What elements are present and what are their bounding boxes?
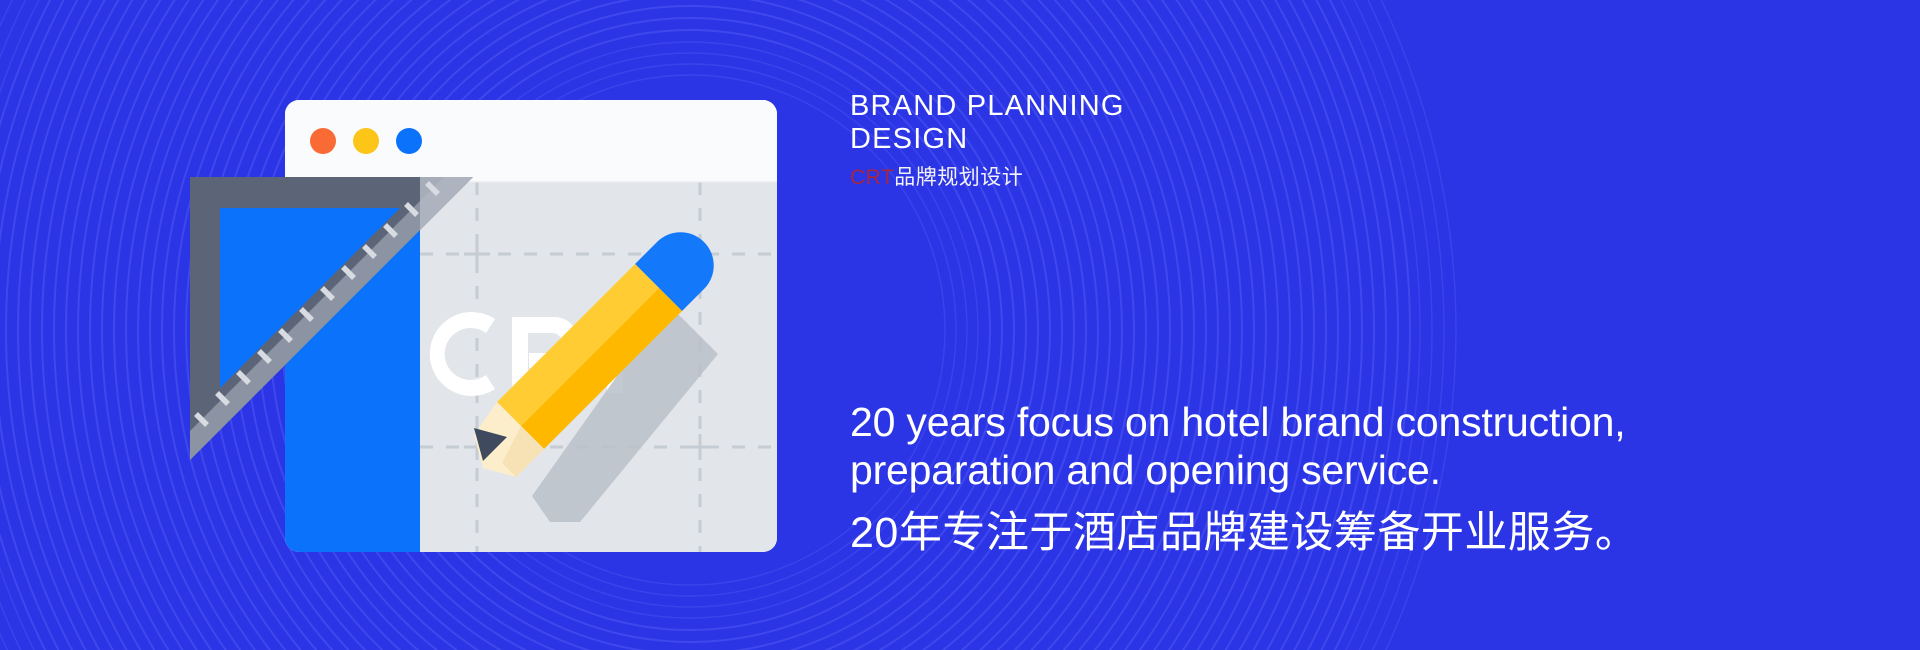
eyebrow-line-2: DESIGN xyxy=(850,123,1470,156)
brand-design-illustration xyxy=(232,82,832,572)
headline-block: 20 years focus on hotel brand constructi… xyxy=(850,398,1850,558)
maximize-dot xyxy=(396,128,422,154)
eyebrow-subtitle-cn-text: 品牌规划设计 xyxy=(894,166,1023,189)
promo-banner: BRAND PLANNING DESIGN CRT品牌规划设计 20 years… xyxy=(0,0,1920,650)
minimize-dot xyxy=(353,128,379,154)
brand-name-crt: CRT xyxy=(850,166,894,189)
window-control-dots xyxy=(310,128,422,154)
headline-en-line-2: preparation and opening service. xyxy=(850,446,1850,494)
headline-en-line-1: 20 years focus on hotel brand constructi… xyxy=(850,398,1850,446)
headline-cn-line: 20年专注于酒店品牌建设筹备开业服务。 xyxy=(850,508,1850,558)
eyebrow-line-1: BRAND PLANNING xyxy=(850,90,1470,123)
close-dot xyxy=(310,128,336,154)
eyebrow-heading-block: BRAND PLANNING DESIGN CRT品牌规划设计 xyxy=(850,90,1470,191)
browser-window-mockup xyxy=(285,100,777,552)
banner-copy-column: BRAND PLANNING DESIGN CRT品牌规划设计 20 years… xyxy=(850,0,1870,650)
eyebrow-subtitle-cn: CRT品牌规划设计 xyxy=(850,165,1470,191)
